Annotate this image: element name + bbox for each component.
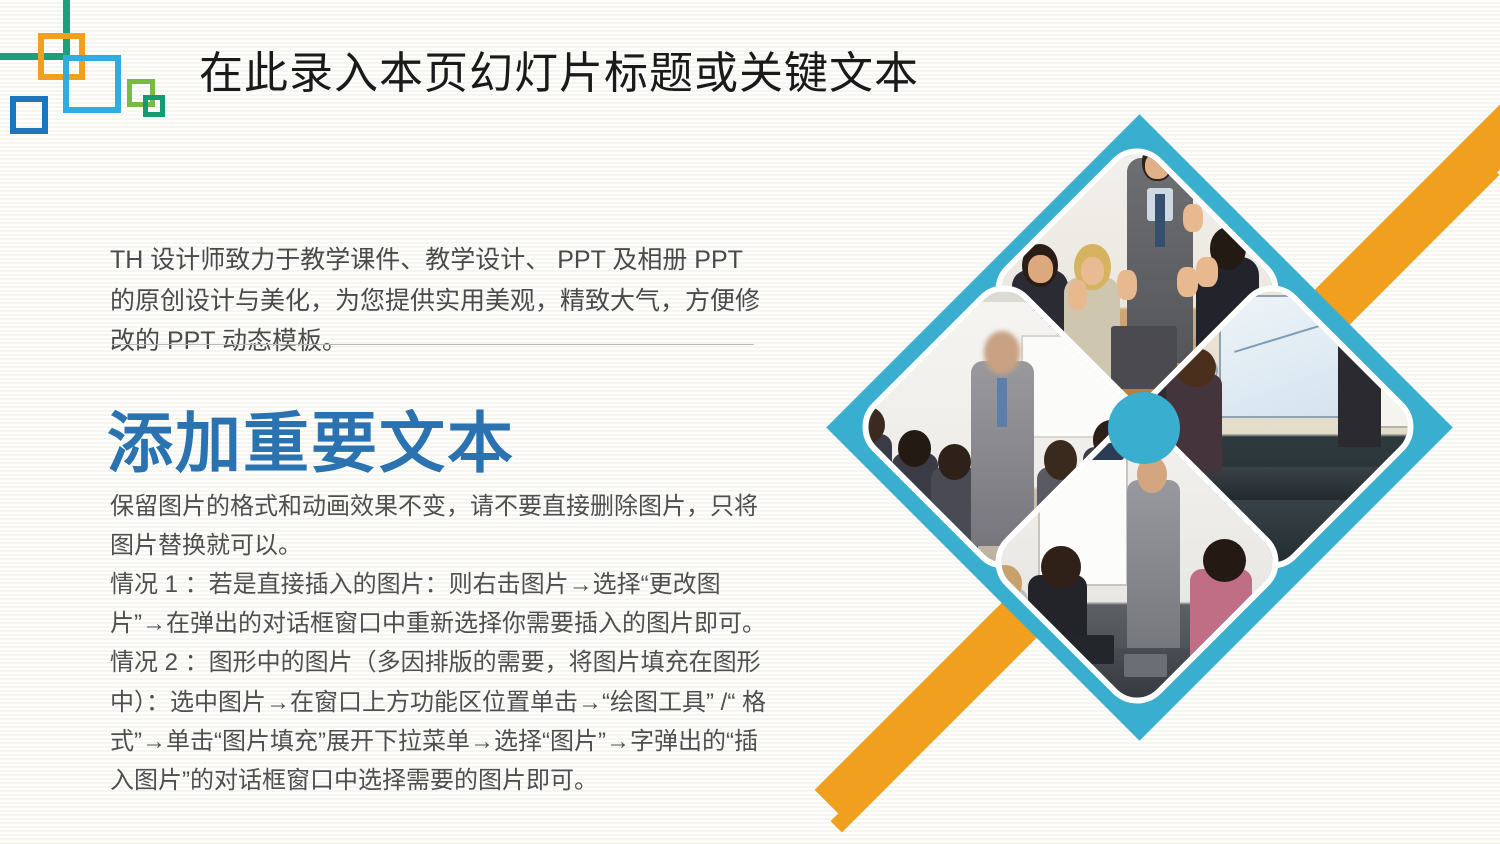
page-title: 在此录入本页幻灯片标题或关键文本 xyxy=(199,48,919,100)
decorative-square-green-tiny xyxy=(143,95,165,117)
collage-center-circle xyxy=(1108,392,1180,464)
decorative-square-teal-medium xyxy=(63,55,121,113)
body-line-1: 保留图片的格式和动画效果不变，请不要直接删除图片，只将图片替换就可以。 xyxy=(110,487,770,565)
intro-divider xyxy=(112,344,754,345)
section-headline: 添加重要文本 xyxy=(107,390,515,486)
slide-canvas: 在此录入本页幻灯片标题或关键文本 TH 设计师致力于教学课件、教学设计、 PPT… xyxy=(0,0,1500,844)
decorative-square-blue-small xyxy=(10,96,48,134)
body-line-2: 情况 1 ：若是直接插入的图片：则右击图片→选择“更改图片”→在弹出的对话框窗口… xyxy=(110,565,770,643)
body-text-block: 保留图片的格式和动画效果不变，请不要直接删除图片，只将图片替换就可以。 情况 1… xyxy=(110,487,770,800)
body-line-3: 情况 2 ：图形中的图片（多因排版的需要，将图片填充在图形中）：选中图片→在窗口… xyxy=(110,643,770,799)
